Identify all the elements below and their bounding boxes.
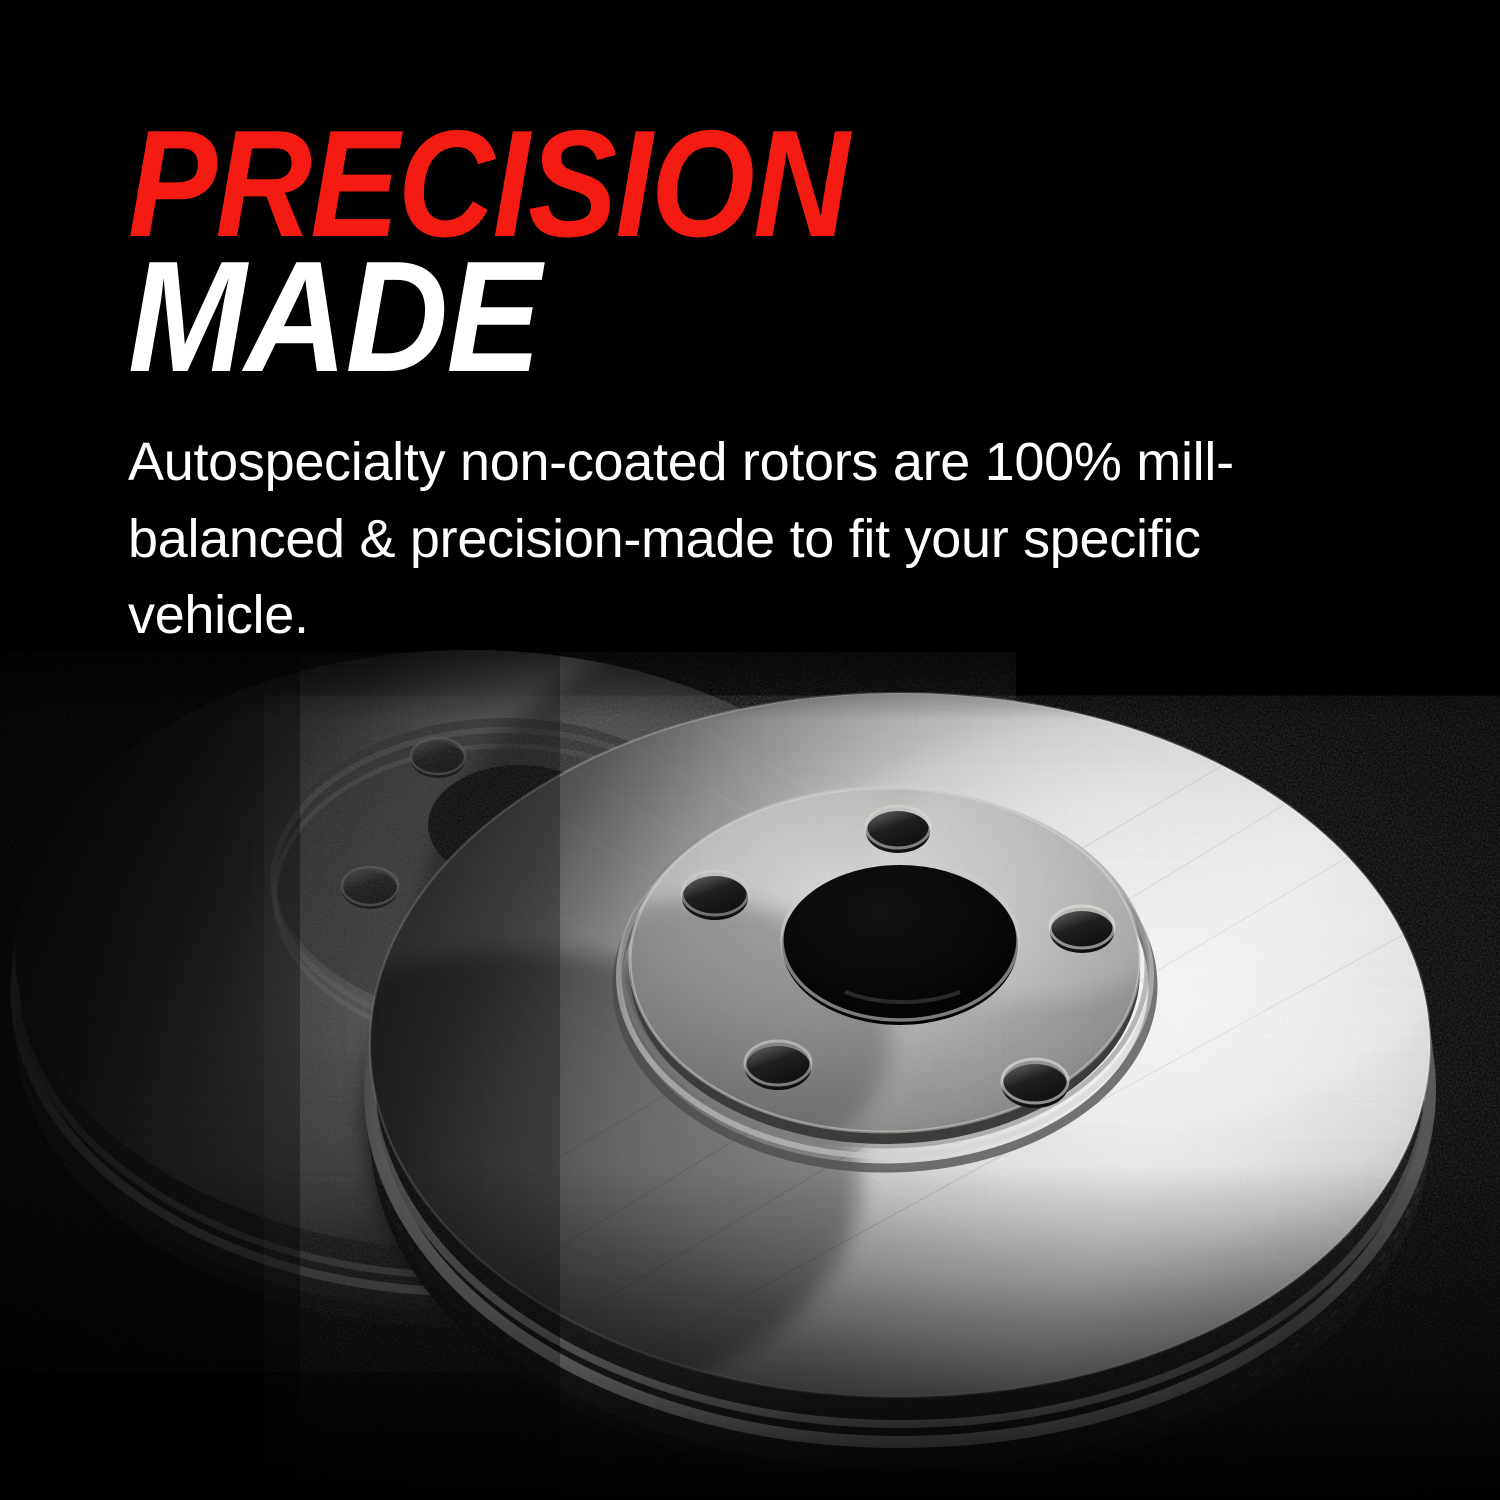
headline-line-made: MADE — [128, 242, 1262, 392]
body-description: Autospecialty non-coated rotors are 100%… — [128, 424, 1308, 654]
product-photo — [0, 620, 1500, 1500]
center-bore — [782, 860, 1018, 1025]
headline: PRECISION MADE — [128, 112, 1388, 392]
promo-banner: PRECISION MADE Autospecialty non-coated … — [0, 0, 1500, 1500]
